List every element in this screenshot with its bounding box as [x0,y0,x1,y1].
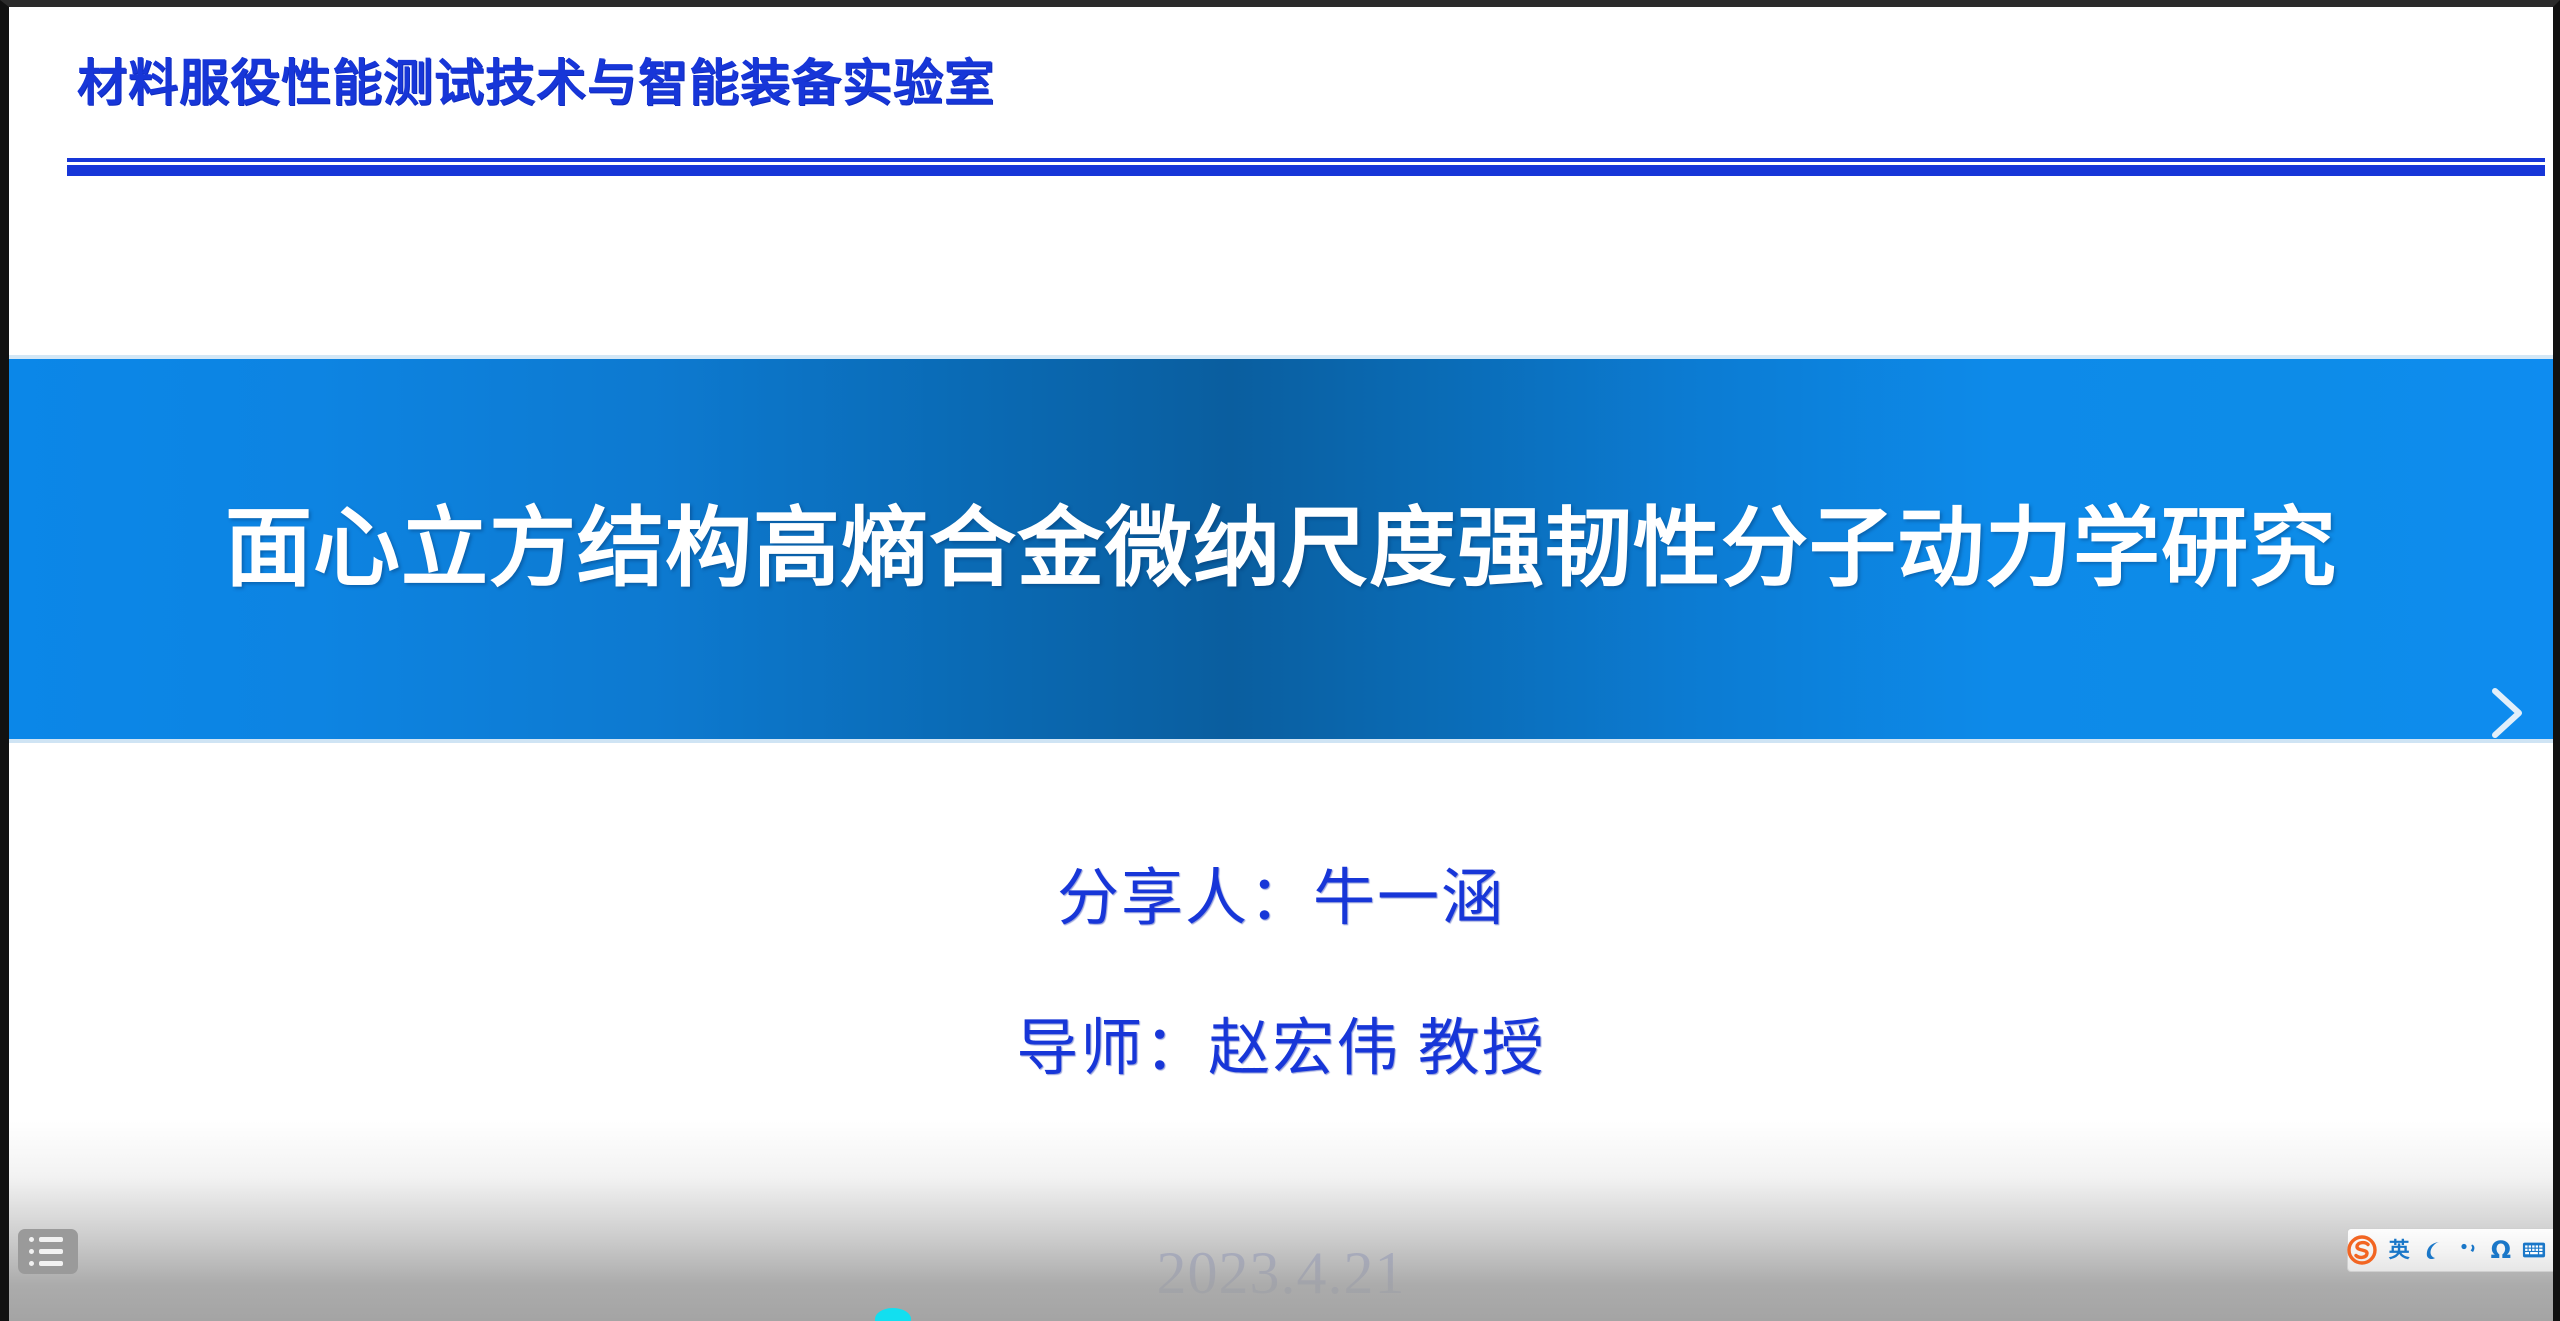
speaker-line: 分享人：牛一涵 [9,847,2553,937]
presentation-slide: 材料服役性能测试技术与智能装备实验室 面心立方结构高熵合金微纳尺度强韧性分子动力… [0,0,2560,1321]
menu-row [29,1261,78,1266]
menu-bullet-dot [29,1249,34,1254]
menu-bullet-dot [29,1237,34,1242]
chevron-right-icon[interactable] [2485,683,2529,743]
menu-bullet-bar [39,1261,63,1266]
presenter-info: 分享人：牛一涵 导师：赵宏伟 教授 [9,847,2553,1087]
menu-row [29,1237,78,1242]
sogou-s-logo-icon[interactable] [2346,1234,2378,1266]
slide-date: 2023.4.21 [9,1239,2553,1308]
slide-header: 材料服役性能测试技术与智能装备实验室 [9,7,2553,207]
omega-symbol-icon[interactable]: Ω [2491,1238,2511,1262]
crescent-moon-icon[interactable] [2421,1238,2445,1262]
keyboard-icon[interactable] [2522,1238,2546,1262]
menu-bullet-bar [39,1237,63,1242]
slide-title: 面心立方结构高熵合金微纳尺度强韧性分子动力学研究 [225,503,2337,594]
lab-name-heading: 材料服役性能测试技术与智能装备实验室 [77,43,995,115]
ime-toolbar[interactable]: 英 Ω [2347,1228,2553,1272]
pointer-icon [875,1308,911,1321]
header-rule-thick [67,165,2545,176]
advisor-line: 导师：赵宏伟 教授 [9,997,2553,1087]
title-banner: 面心立方结构高熵合金微纳尺度强韧性分子动力学研究 [9,355,2553,743]
menu-bullet-bar [39,1249,63,1254]
ime-mode-label[interactable]: 英 [2389,1240,2410,1261]
list-menu-icon[interactable] [18,1229,78,1274]
punctuation-icon[interactable] [2456,1238,2480,1262]
menu-bullet-dot [29,1261,34,1266]
menu-row [29,1249,78,1254]
